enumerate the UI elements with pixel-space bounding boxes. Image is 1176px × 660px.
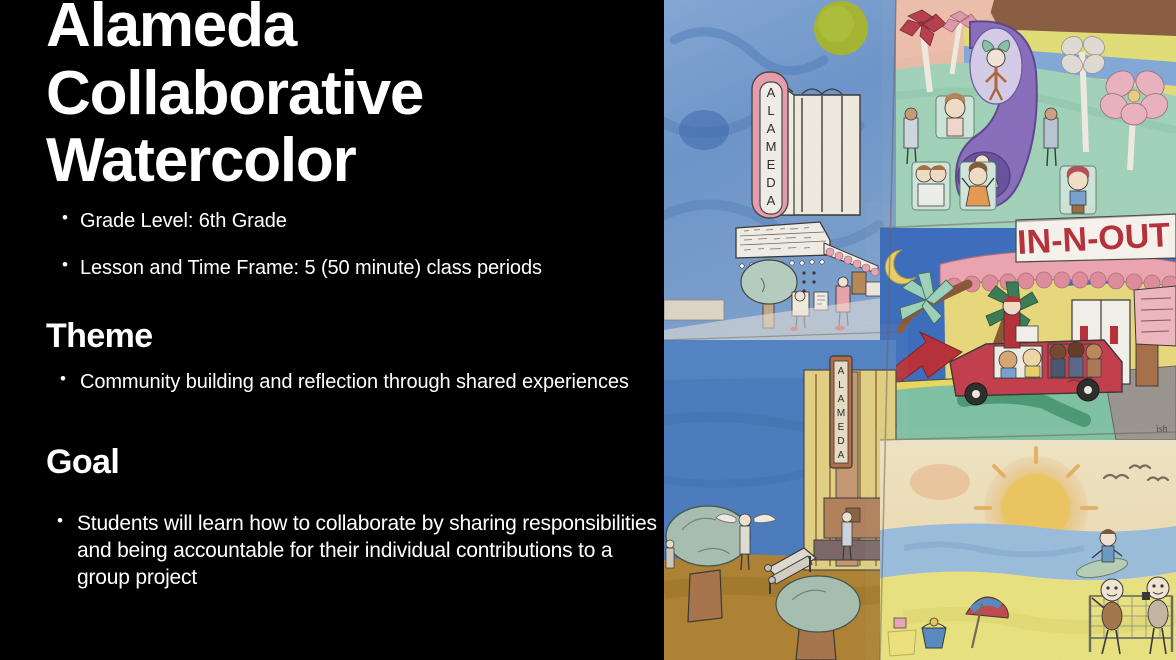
alameda-vertical-sign-second: A L A M E D A xyxy=(830,356,852,468)
panel-beach-sunset xyxy=(880,440,1176,660)
in-n-out-sign-text: IN-N-OUT xyxy=(1016,216,1171,262)
figure-distant xyxy=(666,540,674,568)
slide-text-pane: Alameda Collaborative Watercolor Grade L… xyxy=(0,0,664,660)
list-item-goal-statement: Students will learn how to collaborate b… xyxy=(57,511,657,592)
panel-park-playground xyxy=(896,0,1176,228)
svg-text:D: D xyxy=(766,175,775,190)
svg-text:D: D xyxy=(837,436,844,447)
svg-text:A: A xyxy=(838,450,845,461)
svg-text:A: A xyxy=(838,394,845,405)
lesson-meta-list: Grade Level: 6th Grade Lesson and Time F… xyxy=(62,208,652,302)
figure-card-girl xyxy=(936,93,974,138)
svg-text:M: M xyxy=(837,408,845,419)
figure-card-twins xyxy=(912,162,950,210)
collaborative-watercolor-artwork: A L A M E D A xyxy=(664,0,1176,660)
svg-text:A: A xyxy=(838,366,845,377)
list-item-grade-level: Grade Level: 6th Grade xyxy=(62,208,652,234)
alameda-vertical-sign: A L A M E D A xyxy=(752,72,788,218)
section-heading-goal: Goal xyxy=(46,443,119,482)
page-title: Alameda Collaborative Watercolor xyxy=(46,0,646,195)
figure-card-orange-dress xyxy=(960,162,996,210)
svg-text:A: A xyxy=(767,85,776,100)
svg-text:L: L xyxy=(838,380,844,391)
presentation-slide: Alameda Collaborative Watercolor Grade L… xyxy=(0,0,1176,660)
panel-waterfront-park: A L A M E D A xyxy=(664,340,896,660)
svg-text:A: A xyxy=(767,193,776,208)
svg-text:E: E xyxy=(838,422,845,433)
artwork-illustration: A L A M E D A xyxy=(664,0,1176,660)
svg-text:M: M xyxy=(766,139,777,154)
theme-bullet-list: Community building and reflection throug… xyxy=(60,369,650,395)
svg-text:A: A xyxy=(767,121,776,136)
panel-alameda-theater: A L A M E D A xyxy=(664,0,896,340)
section-heading-theme: Theme xyxy=(46,317,153,356)
list-item-theme-statement: Community building and reflection throug… xyxy=(60,369,650,395)
panel-in-n-out: IN-N-OUT xyxy=(880,214,1176,440)
artist-signature: ish xyxy=(1156,424,1168,435)
svg-text:L: L xyxy=(767,103,774,118)
sun-olive xyxy=(814,1,868,55)
svg-text:E: E xyxy=(767,157,776,172)
figure-card-red-hair xyxy=(1060,166,1096,214)
goal-bullet-list: Students will learn how to collaborate b… xyxy=(57,511,657,592)
list-item-time-frame: Lesson and Time Frame: 5 (50 minute) cla… xyxy=(62,255,652,281)
menu-board-sign xyxy=(1134,286,1176,346)
